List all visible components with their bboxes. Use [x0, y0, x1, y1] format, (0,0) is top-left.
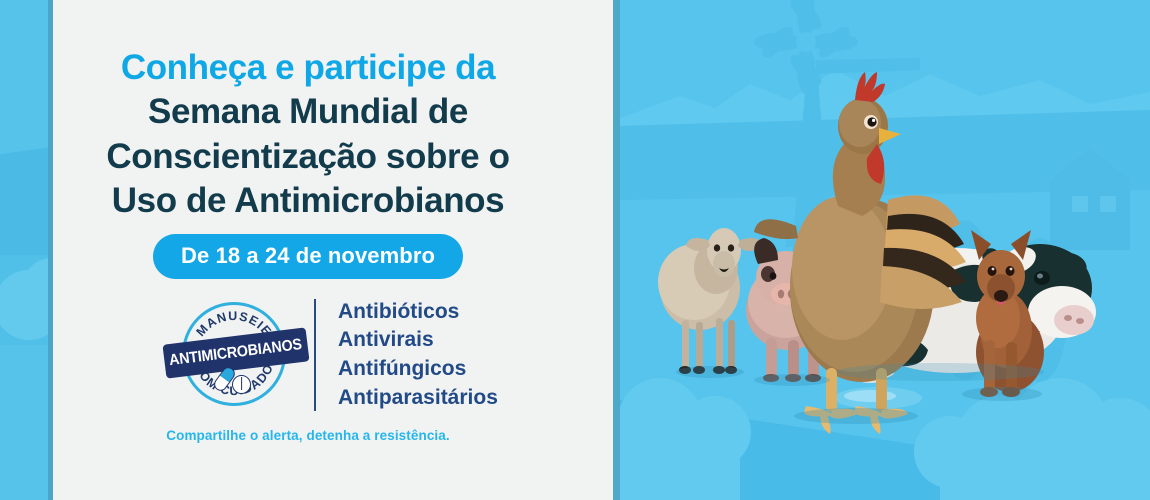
- chicken-comb: [855, 72, 885, 102]
- list-item: Antibióticos: [338, 298, 498, 327]
- list-item: Antifúngicos: [338, 355, 498, 384]
- tablet-pill-icon: [232, 375, 251, 394]
- list-item: Antiparasitários: [338, 384, 498, 413]
- chicken-shadow: [794, 408, 918, 424]
- left-accent-strip: [0, 0, 48, 500]
- antimicrobial-list: Antibióticos Antivirais Antifúngicos Ant…: [338, 298, 498, 412]
- farm-animals: [620, 0, 1150, 500]
- date-pill-container: De 18 a 24 de novembro: [68, 234, 548, 279]
- sheep-illustration: [658, 228, 762, 374]
- antimicrobianos-logo-badge[interactable]: MANUSEIE COM CUIDADO ANTIMICROBIANOS: [170, 296, 298, 414]
- page-title: Conheça e participe da Semana Mundial de…: [68, 46, 548, 224]
- headline-line-1: Conheça e participe da: [68, 46, 548, 90]
- brand-row: MANUSEIE COM CUIDADO ANTIMICROBIANOS Ant…: [170, 296, 498, 414]
- sheep-shadow: [676, 366, 744, 378]
- chicken-beak: [879, 128, 901, 144]
- farm-illustration: [620, 0, 1150, 500]
- badge-pill-icons: [216, 366, 258, 396]
- brand-divider: [314, 299, 316, 411]
- headline-line-2: Semana Mundial de: [68, 90, 548, 134]
- pig-shadow: [754, 374, 830, 386]
- cow-shadow: [836, 363, 1044, 381]
- dog-shadow: [962, 387, 1042, 401]
- event-date-badge[interactable]: De 18 a 24 de novembro: [153, 234, 463, 279]
- list-item: Antivirais: [338, 326, 498, 355]
- illustration-edge: [613, 0, 620, 500]
- tagline: Compartilhe o alerta, detenha a resistên…: [68, 428, 548, 443]
- amr-awareness-banner: Conheça e participe da Semana Mundial de…: [0, 0, 1150, 500]
- strip-hill-shape: [0, 142, 48, 269]
- water-puddle-highlight: [844, 390, 896, 402]
- headline-line-4: Uso de Antimicrobianos: [68, 179, 548, 223]
- headline-line-3: Conscientização sobre o: [68, 135, 548, 179]
